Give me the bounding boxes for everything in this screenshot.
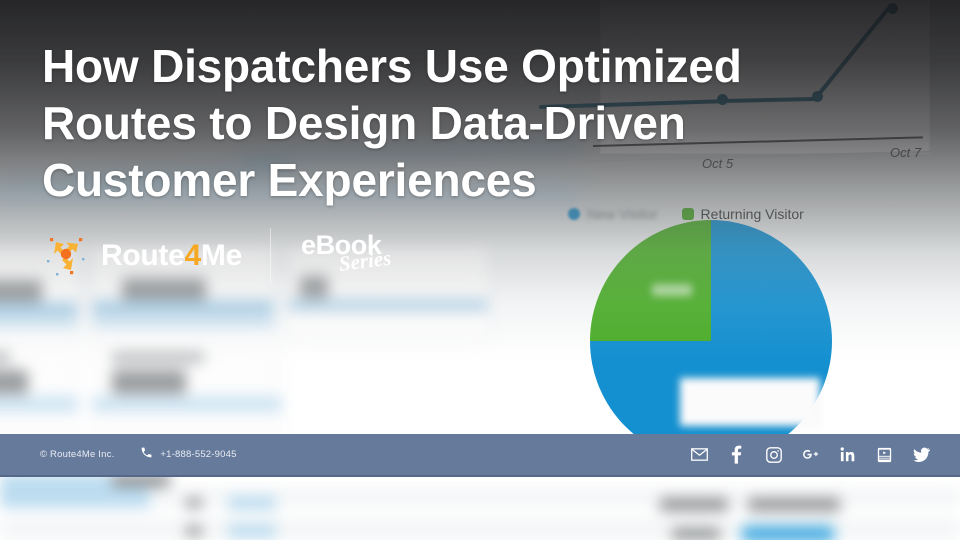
instagram-icon[interactable] [765,446,782,463]
facebook-icon[interactable] [728,446,745,463]
phone-icon [140,446,153,464]
twitter-icon[interactable] [913,446,930,463]
title-line-1: How Dispatchers Use Optimized [42,38,812,95]
route4me-logo[interactable]: Route4Me [42,232,242,280]
brand-name-accent: 4 [185,239,201,272]
slide-canvas: Oct 5 Oct 7 New Visitor Returning Visito… [0,0,960,540]
ebook-series-mark: eBook Series [301,230,413,282]
copyright-text: © Route4Me Inc. [40,449,114,460]
youtube-icon[interactable] [876,446,893,463]
route4me-wordmark: Route4Me [101,241,242,271]
route-arrows-icon [42,232,90,280]
footer-left-group: © Route4Me Inc. +1-888-552-9045 [40,446,237,464]
social-links [691,446,930,463]
phone-number: +1-888-552-9045 [160,449,236,460]
brand-name-part2: Me [201,239,242,272]
page-title: How Dispatchers Use Optimized Routes to … [42,38,812,209]
brand-lockup: Route4Me eBook Series [42,228,413,284]
phone-block[interactable]: +1-888-552-9045 [140,446,236,464]
title-line-3: Customer Experiences [42,152,812,209]
linkedin-icon[interactable] [839,446,856,463]
googleplus-icon[interactable] [802,446,819,463]
brand-name-part1: Route [101,239,185,272]
ebook-series-label: Series [338,248,393,275]
footer-bar: © Route4Me Inc. +1-888-552-9045 [0,434,960,477]
title-line-2: Routes to Design Data-Driven [42,95,812,152]
blurred-list-strip [0,478,960,540]
email-icon[interactable] [691,446,708,463]
lockup-divider [270,228,271,284]
